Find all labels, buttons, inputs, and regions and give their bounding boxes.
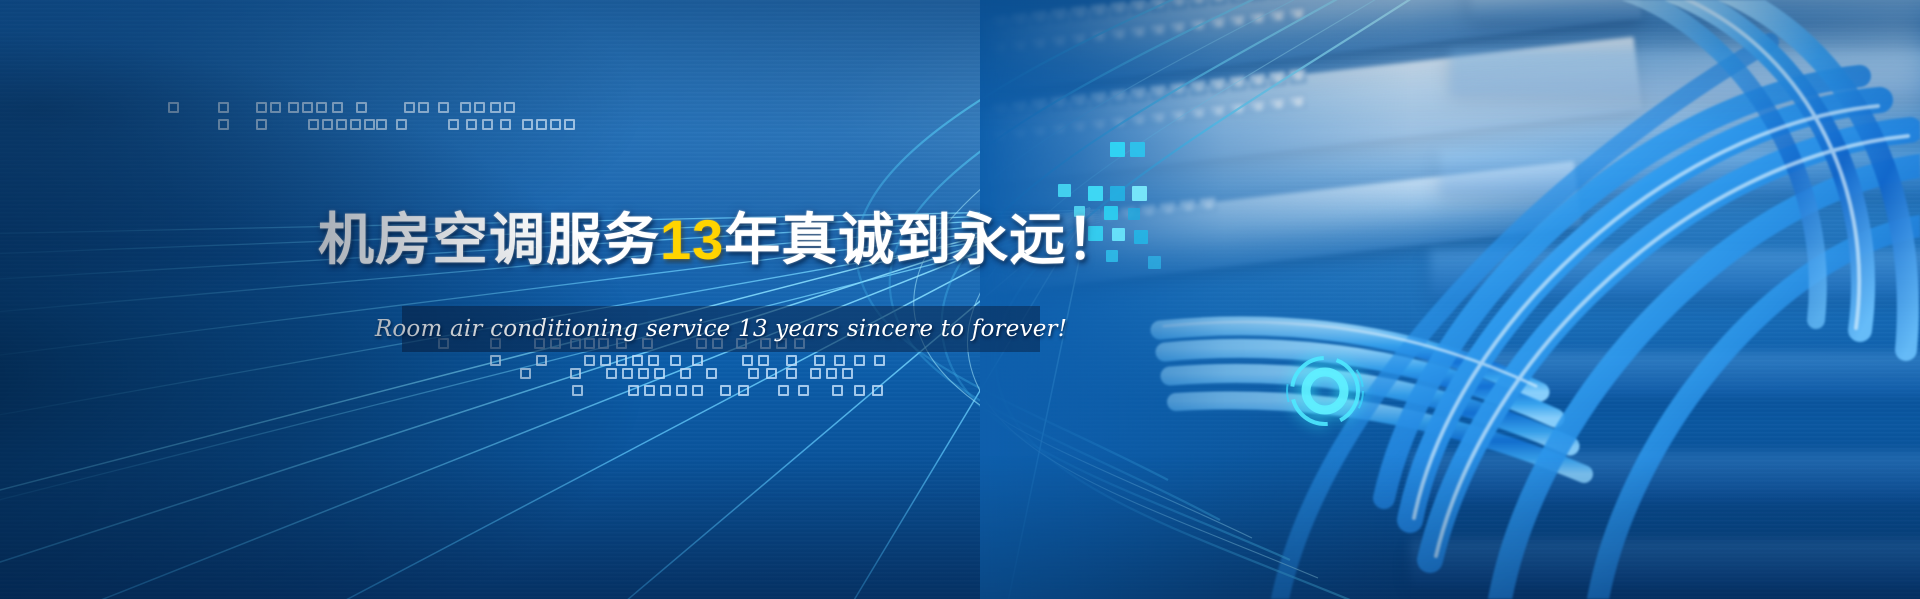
- hero-banner: 机房空调服务13年真诚到永远！ Room air conditioning se…: [0, 0, 1920, 599]
- headline-prefix: 机房空调服务: [318, 208, 660, 273]
- hud-ring-icon: [1282, 348, 1368, 434]
- headline-suffix: 年真诚到永远！: [724, 208, 1123, 273]
- page-title: 机房空调服务13年真诚到永远！: [318, 212, 1123, 269]
- headline-years-highlight: 13: [660, 208, 724, 271]
- banner-copy: 机房空调服务13年真诚到永远！ Room air conditioning se…: [0, 0, 1250, 599]
- subtitle: Room air conditioning service 13 years s…: [402, 306, 1040, 352]
